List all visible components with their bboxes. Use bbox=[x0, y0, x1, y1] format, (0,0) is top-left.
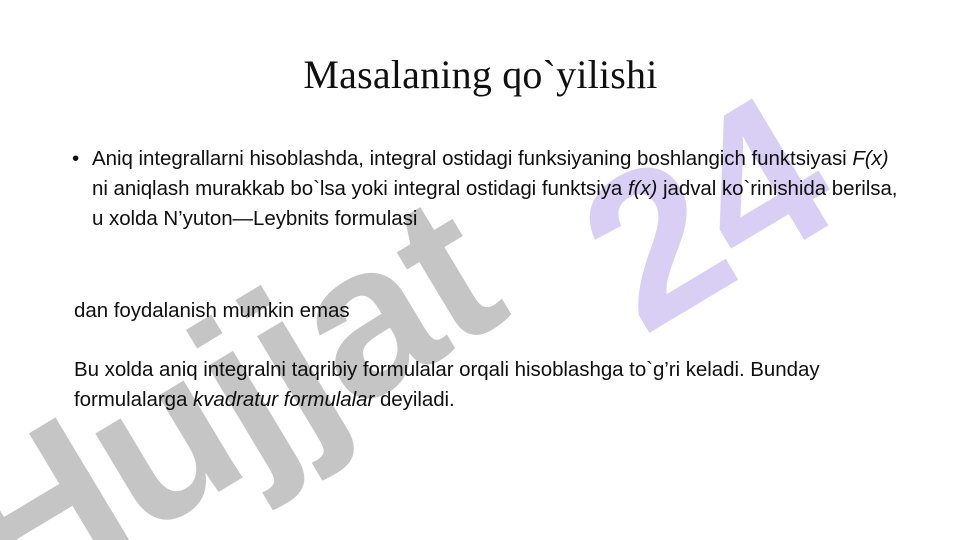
paragraph-3-text-b: deyiladi. bbox=[374, 388, 454, 411]
paragraph-1-text-b: ni aniqlash murakkab bo`lsa yoki integra… bbox=[92, 177, 628, 200]
paragraph-1-italic-fx: f(x) bbox=[628, 177, 657, 200]
presentation-slide: Hujjat 24 Masalaning qo`yilishi • Aniq i… bbox=[0, 0, 961, 540]
paragraph-2: dan foydalanish mumkin emas bbox=[60, 296, 905, 326]
bullet-icon: • bbox=[72, 144, 79, 174]
paragraph-1-italic-Fx: F(x) bbox=[852, 147, 888, 170]
paragraph-3-italic-term: kvadratur formulalar bbox=[193, 388, 374, 411]
bullet-paragraph-1: • Aniq integrallarni hisoblashda, integr… bbox=[60, 144, 905, 234]
paragraph-1-text-a: Aniq integrallarni hisoblashda, integral… bbox=[92, 147, 852, 170]
paragraph-3: Bu xolda aniq integralni taqribiy formul… bbox=[60, 355, 905, 415]
slide-body: • Aniq integrallarni hisoblashda, integr… bbox=[60, 144, 905, 415]
slide-title: Masalaning qo`yilishi bbox=[0, 52, 961, 98]
slide-content: Masalaning qo`yilishi • Aniq integrallar… bbox=[0, 0, 961, 540]
